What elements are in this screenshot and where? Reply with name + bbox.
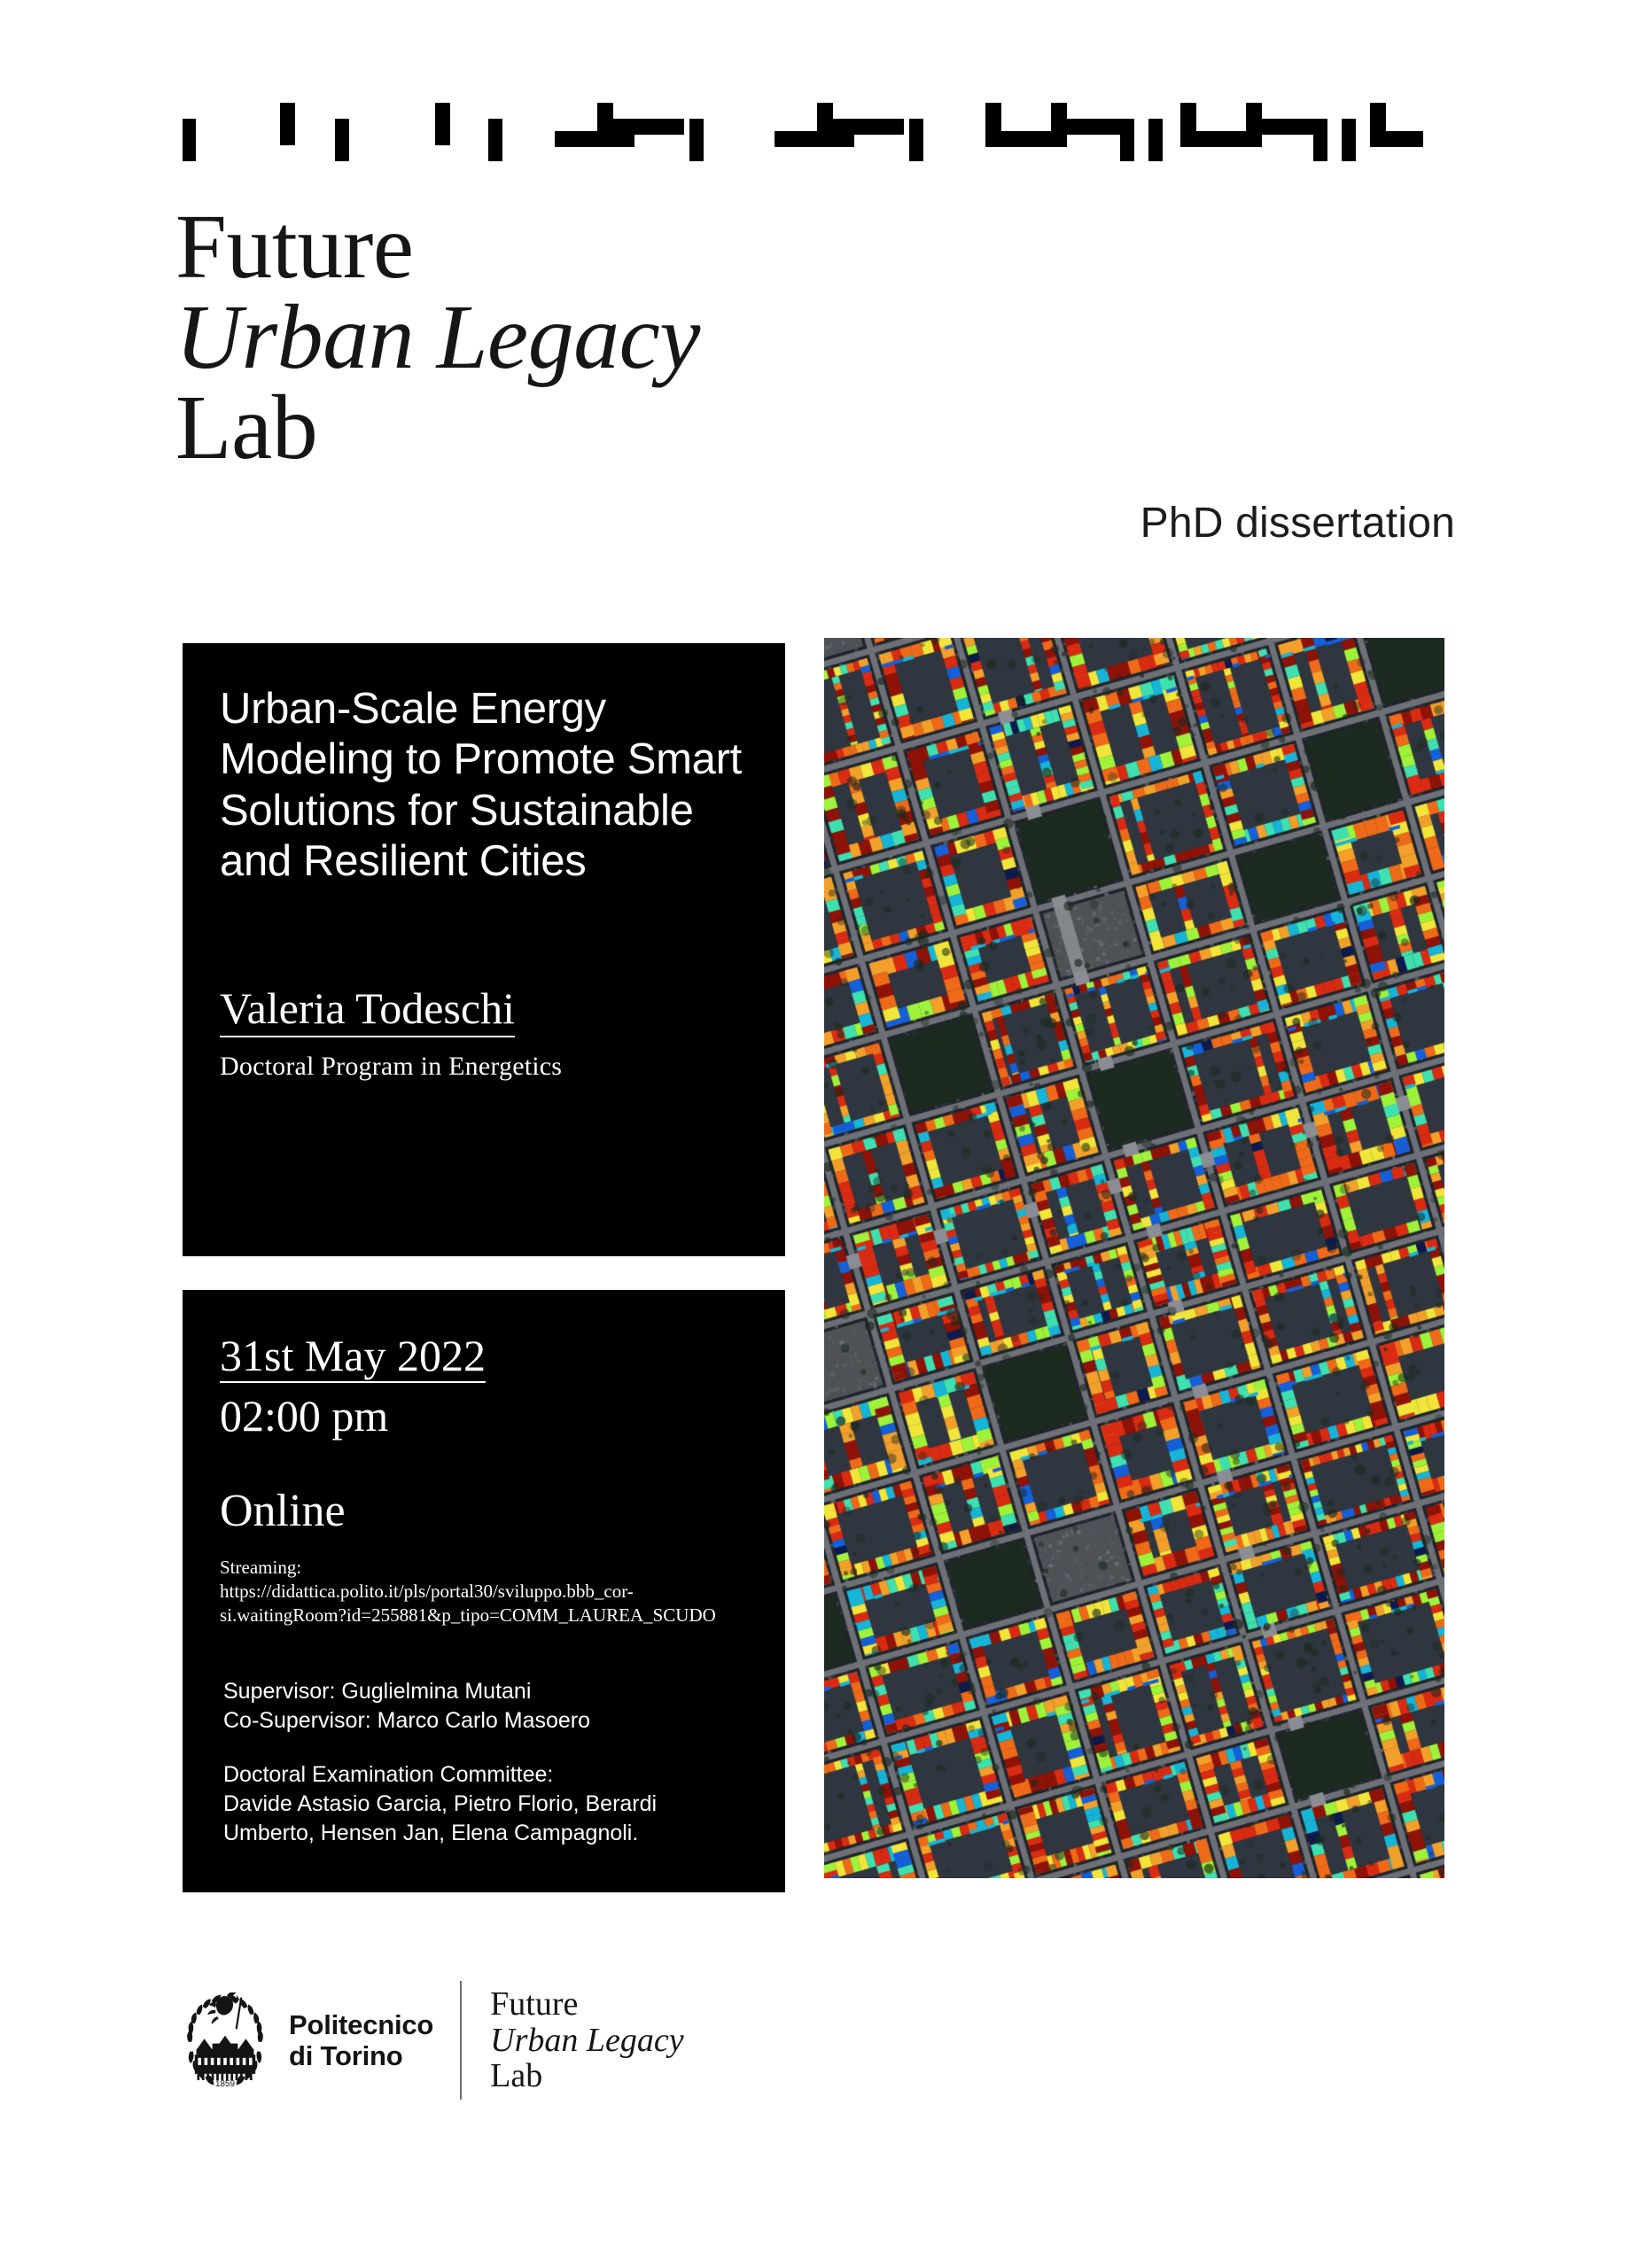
dissertation-category-label: PhD dissertation: [1140, 499, 1455, 548]
co-supervisor-line: Co-Supervisor: Marco Carlo Masoero: [223, 1706, 748, 1736]
politecnico-name-line-2: di Torino: [289, 2040, 433, 2071]
supervisors-group: Supervisor: Guglielmina Mutani Co-Superv…: [223, 1677, 748, 1736]
crest-year: 1859: [215, 2079, 235, 2088]
committee-group: Doctoral Examination Committee: Davide A…: [223, 1760, 748, 1848]
event-info-panel: 31st May 2022 02:00 pm Online Streaming:…: [183, 1290, 785, 1892]
author-program: Doctoral Program in Energetics: [220, 1052, 748, 1082]
footer-logotype-line-future: Future: [490, 1986, 683, 2023]
streaming-label: Streaming:: [220, 1556, 748, 1580]
footer-divider: [460, 1981, 462, 2100]
committee-line-2: Umberto, Hensen Jan, Elena Campagnoli.: [223, 1819, 748, 1848]
streaming-url-line-1[interactable]: https://didattica.polito.it/pls/portal30…: [220, 1580, 748, 1604]
streaming-url-line-2[interactable]: si.waitingRoom?id=255881&p_tipo=COMM_LAU…: [220, 1604, 748, 1627]
urban-solar-energy-map: [824, 638, 1444, 1878]
event-mode: Online: [220, 1486, 748, 1536]
abstract-barcode-mark: [183, 99, 1423, 161]
politecnico-name: Politecnico di Torino: [289, 2009, 433, 2071]
logotype-line-future: Future: [175, 202, 700, 292]
logotype-line-urban-legacy: Urban Legacy: [175, 292, 700, 383]
supervisor-line: Supervisor: Guglielmina Mutani: [223, 1677, 748, 1706]
author-block: Valeria Todeschi Doctoral Program in Ene…: [220, 984, 748, 1082]
thesis-title: Urban-Scale Energy Modeling to Promote S…: [220, 684, 748, 887]
footer-lab-logotype: Future Urban Legacy Lab: [490, 1986, 683, 2094]
streaming-block: Streaming: https://didattica.polito.it/p…: [220, 1556, 748, 1627]
committee-line-1: Davide Astasio Garcia, Pietro Florio, Be…: [223, 1790, 748, 1819]
footer-logotype-line-urban-legacy: Urban Legacy: [490, 2023, 683, 2059]
politecnico-name-line-1: Politecnico: [289, 2009, 433, 2040]
author-name: Valeria Todeschi: [220, 984, 515, 1037]
people-block: Supervisor: Guglielmina Mutani Co-Superv…: [220, 1677, 748, 1848]
event-date: 31st May 2022: [220, 1332, 486, 1383]
title-panel: Urban-Scale Energy Modeling to Promote S…: [183, 643, 785, 1256]
logotype-line-lab: Lab: [175, 383, 700, 473]
lab-logotype: Future Urban Legacy Lab: [175, 202, 700, 473]
footer-logotype-line-lab: Lab: [490, 2058, 683, 2094]
event-time: 02:00 pm: [220, 1388, 748, 1444]
politecnico-di-torino-crest: 1859: [177, 1992, 273, 2088]
footer: 1859 Politecnico di Torino Future Urban …: [177, 1956, 798, 2124]
committee-heading: Doctoral Examination Committee:: [223, 1760, 748, 1790]
map-canvas: [824, 638, 1444, 1878]
politecnico-lockup: 1859 Politecnico di Torino: [177, 1992, 433, 2088]
